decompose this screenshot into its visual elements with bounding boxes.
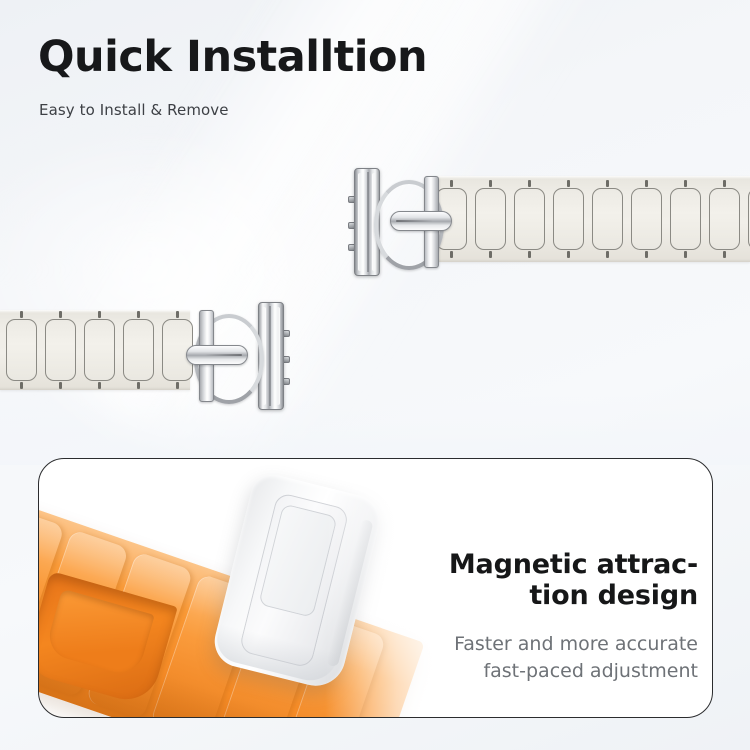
band-link <box>84 319 115 381</box>
band-link <box>123 319 154 381</box>
feature-description: Faster and more accurate fast-paced adju… <box>378 631 698 685</box>
feature-description-line-2: fast-paced adjustment <box>378 658 698 685</box>
orange-strap-tip-inner <box>44 589 154 679</box>
product-feature-image: Quick Installtion Easy to Install & Remo… <box>0 0 750 750</box>
bottom-band-links <box>0 310 190 390</box>
bottom-band-strap <box>0 310 190 390</box>
feature-heading: Magnetic attrac- tion design <box>398 549 698 612</box>
feature-heading-line-2: tion design <box>398 580 698 611</box>
band-link <box>6 319 37 381</box>
band-link <box>45 319 76 381</box>
feature-description-line-1: Faster and more accurate <box>378 631 698 658</box>
feature-panel: Magnetic attrac- tion design Faster and … <box>38 458 713 718</box>
bottom-watch-band <box>0 0 750 450</box>
clasp-horizontal-bar <box>186 345 248 365</box>
feature-heading-line-1: Magnetic attrac- <box>398 549 698 580</box>
bottom-band-clasp <box>178 300 290 412</box>
